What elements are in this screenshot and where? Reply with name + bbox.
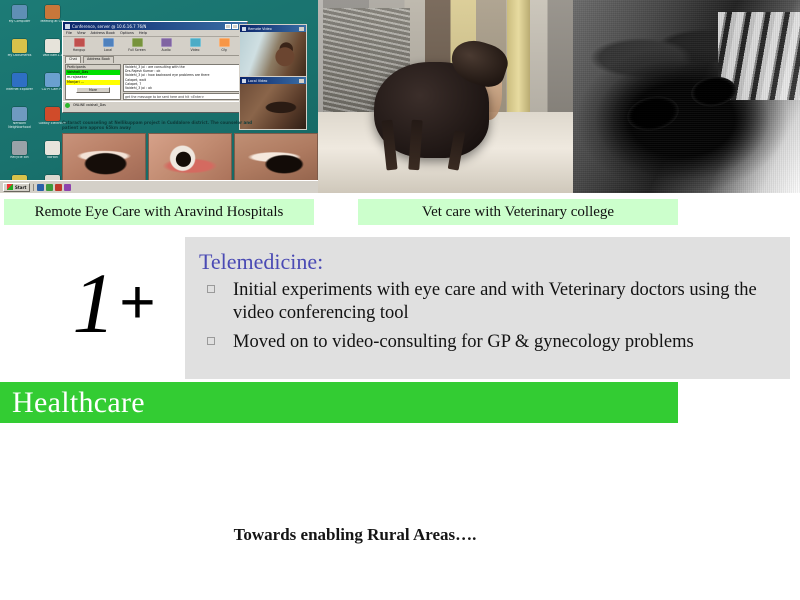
desktop-icon[interactable]: My Documents (3, 38, 36, 71)
maximize-icon[interactable] (232, 24, 238, 29)
participants-more-button[interactable]: More (76, 87, 110, 93)
menu-item[interactable]: View (77, 31, 86, 35)
desktop-icon-label: My Computer (4, 20, 36, 27)
section-banner: Healthcare (0, 382, 678, 423)
toolbar-button-icon (161, 38, 172, 47)
desktop-icon-glyph (12, 107, 27, 121)
tab-chat[interactable]: Chat (65, 56, 81, 63)
conference-title-bar: Conference, server @ 10.6.16.7 76/N (63, 22, 247, 30)
caption-row: Remote Eye Care with Aravind Hospitals V… (0, 199, 800, 227)
app-icon (65, 24, 70, 29)
section-title: Healthcare (0, 382, 678, 423)
quick-launch-icon[interactable] (64, 184, 71, 191)
toolbar-button-icon (219, 38, 230, 47)
desktop-icon[interactable]: Internet Explorer (3, 72, 36, 105)
toolbar-button[interactable]: Hangup (65, 38, 93, 52)
quick-launch-icon[interactable] (46, 184, 53, 191)
local-video-title: Local Video (248, 79, 297, 83)
close-icon[interactable] (299, 27, 304, 31)
remote-video-title: Remote Video (248, 27, 297, 31)
calf-photograph (318, 0, 573, 193)
local-video-title-bar: Local Video (240, 77, 306, 84)
toolbar-button[interactable]: Cfg (210, 38, 238, 52)
conference-menu-bar[interactable]: FileViewAddress BookOptionsHelp (63, 30, 247, 37)
bullet-list: Initial experiments with eye care and wi… (185, 279, 790, 354)
chat-log: Vaidehi_3 joi : are consulting with theD… (123, 64, 245, 92)
video-icon (242, 27, 246, 31)
quick-launch-icon[interactable] (55, 184, 62, 191)
bullet-text: Initial experiments with eye care and wi… (233, 280, 757, 323)
caption-vet-care: Vet care with Veterinary college (358, 199, 678, 225)
participant-row[interactable]: Manjari ... (66, 80, 120, 85)
desktop-icon-label: Network Neighborhood (4, 122, 36, 129)
close-icon[interactable] (299, 79, 304, 83)
conference-window-title: Conference, server @ 10.6.16.7 76/N (72, 24, 223, 29)
desktop-icon-glyph (45, 5, 60, 19)
toolbar-button-icon (190, 38, 201, 47)
toolbar-button[interactable]: Audio (152, 38, 180, 52)
desktop-overlay-caption: Cataract counseling at Nellikuppam proje… (62, 120, 252, 130)
toolbar-button-label: Full Screen (128, 48, 145, 52)
remote-video-frame (240, 32, 306, 77)
quick-launch-bar[interactable] (33, 184, 71, 191)
chat-column: Vaidehi_3 joi : are consulting with theD… (123, 64, 245, 100)
desktop-icon[interactable]: Network Neighborhood (3, 106, 36, 139)
desktop-icon-label: Internet Explorer (4, 88, 36, 95)
desktop-icon-label: My Documents (4, 54, 36, 61)
slide-numeral: 1 + (44, 258, 184, 348)
menu-item[interactable]: Options (120, 31, 134, 35)
windows-desktop-screenshot: My ComputerMeeting at CosMy DocumentsVai… (0, 0, 318, 193)
toolbar-button-label: Local (104, 48, 112, 52)
participants-list[interactable]: Participants Vaishali_Dasm.rajasekarManj… (65, 64, 121, 100)
numeral-one: 1 (72, 260, 115, 346)
content-heading: Telemedicine: (185, 237, 790, 279)
desktop-icon-glyph (45, 107, 60, 121)
bullet-item: Initial experiments with eye care and wi… (201, 279, 774, 325)
toolbar-button-label: Audio (161, 48, 170, 52)
desktop-icon-grid: My ComputerMeeting at CosMy DocumentsVai… (3, 4, 69, 193)
windows-flag-icon (7, 184, 13, 190)
desktop-icon-glyph (45, 73, 60, 87)
conference-window[interactable]: Conference, server @ 10.6.16.7 76/N File… (62, 21, 248, 113)
menu-item[interactable]: Help (139, 31, 147, 35)
remote-video-window[interactable]: Remote Video (239, 24, 307, 78)
tab-address-book[interactable]: Address Book (83, 56, 114, 63)
bullet-item: Moved on to video-consulting for GP & gy… (201, 331, 774, 354)
toolbar-button[interactable]: Local (94, 38, 122, 52)
numeral-plus-icon: + (119, 272, 155, 334)
desktop-icon-glyph (45, 141, 60, 155)
start-button[interactable]: Start (3, 183, 30, 192)
conference-toolbar[interactable]: HangupLocalFull ScreenAudioVideoCfg (63, 37, 247, 56)
quick-launch-icon[interactable] (37, 184, 44, 191)
caption-remote-eye-care: Remote Eye Care with Aravind Hospitals (4, 199, 314, 225)
bullet-square-icon (207, 337, 215, 345)
toolbar-button[interactable]: Full Screen (123, 38, 151, 52)
bullet-square-icon (207, 285, 215, 293)
conference-status-bar: ONLINE vaishali_Das (63, 101, 247, 108)
desktop-icon-glyph (12, 73, 27, 87)
menu-item[interactable]: Address Book (91, 31, 115, 35)
menu-item[interactable]: File (66, 31, 72, 35)
toolbar-button-label: Video (191, 48, 200, 52)
desktop-icon-glyph (12, 39, 27, 53)
desktop-icon[interactable]: My Computer (3, 4, 36, 37)
desktop-icon-label: Recycle Bin (4, 156, 36, 163)
start-button-label: Start (15, 185, 26, 190)
toolbar-button-icon (132, 38, 143, 47)
slide-canvas: My ComputerMeeting at CosMy DocumentsVai… (0, 0, 800, 600)
conference-tabs[interactable]: ChatAddress Book (63, 56, 247, 63)
desktop-icon-glyph (12, 141, 27, 155)
minimize-icon[interactable] (225, 24, 231, 29)
status-text: ONLINE vaishali_Das (73, 103, 106, 107)
toolbar-button-label: Cfg (221, 48, 226, 52)
conference-body: Participants Vaishali_Dasm.rajasekarManj… (63, 63, 247, 101)
photo-strip: My ComputerMeeting at CosMy DocumentsVai… (0, 0, 800, 193)
toolbar-button-label: Hangup (73, 48, 85, 52)
desktop-icon[interactable]: Recycle Bin (3, 140, 36, 173)
content-panel: Telemedicine: Initial experiments with e… (185, 237, 790, 379)
toolbar-button-icon (103, 38, 114, 47)
online-status-icon (65, 103, 70, 108)
footer-note: Towards enabling Rural Areas…. (0, 525, 800, 545)
cattle-muzzle-photograph (573, 0, 800, 193)
remote-video-title-bar: Remote Video (240, 25, 306, 32)
windows-taskbar[interactable]: Start (0, 180, 318, 193)
toolbar-button-icon (74, 38, 85, 47)
desktop-icon-glyph (45, 39, 60, 53)
chat-input[interactable]: get the message to be sent here and hit … (123, 93, 245, 100)
video-icon (242, 79, 246, 83)
photo-grain-overlay (573, 0, 800, 193)
bullet-text: Moved on to video-consulting for GP & gy… (233, 332, 694, 352)
toolbar-button[interactable]: Video (181, 38, 209, 52)
desktop-icon-glyph (12, 5, 27, 19)
chat-log-line: Vaidehi_3 joi : ok (125, 86, 243, 90)
